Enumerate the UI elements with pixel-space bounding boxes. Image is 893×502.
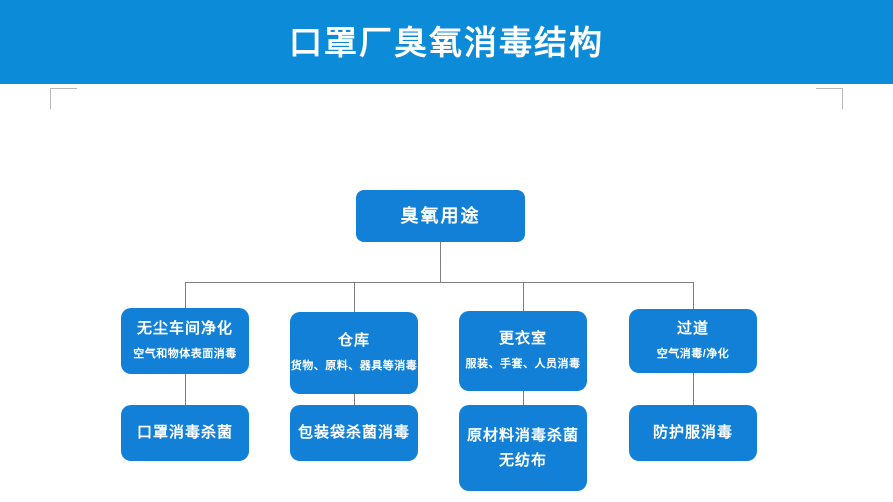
- connector-leaf-4: [693, 373, 694, 405]
- node-root[interactable]: 臭氧用途: [356, 190, 525, 242]
- node-changing-room-label: 更衣室: [499, 329, 547, 349]
- page-title: 口罩厂臭氧消毒结构: [0, 0, 893, 80]
- node-protective-clothing-disinfection[interactable]: 防护服消毒: [629, 405, 757, 461]
- node-changing-room-sublabel: 服装、手套、人员消毒: [466, 356, 581, 373]
- node-corridor-label: 过道: [677, 319, 709, 339]
- node-packaging-bag-disinfection-label: 包装袋杀菌消毒: [298, 423, 410, 443]
- header-divider: [0, 80, 893, 84]
- connector-bus: [185, 282, 694, 283]
- connector-branch-3: [523, 282, 524, 311]
- connector-branch-1: [185, 282, 186, 308]
- connector-leaf-3: [523, 391, 524, 405]
- node-warehouse-label: 仓库: [338, 331, 370, 351]
- node-raw-material-disinfection-label: 原材料消毒杀菌 无纺布: [459, 423, 587, 474]
- node-mask-disinfection-label: 口罩消毒杀菌: [137, 423, 233, 443]
- frame-corner-top-left: [50, 88, 77, 109]
- node-packaging-bag-disinfection[interactable]: 包装袋杀菌消毒: [290, 405, 418, 461]
- node-changing-room[interactable]: 更衣室 服装、手套、人员消毒: [459, 311, 587, 391]
- connector-branch-2: [354, 282, 355, 312]
- node-corridor-sublabel: 空气消毒/净化: [657, 346, 730, 363]
- node-protective-clothing-disinfection-label: 防护服消毒: [653, 423, 733, 443]
- frame-corner-top-right: [816, 88, 843, 109]
- connector-root-stem: [440, 242, 441, 282]
- node-cleanroom-sublabel: 空气和物体表面消毒: [133, 346, 237, 363]
- connector-branch-4: [693, 282, 694, 309]
- node-corridor[interactable]: 过道 空气消毒/净化: [629, 309, 757, 373]
- node-warehouse[interactable]: 仓库 货物、原料、器具等消毒: [290, 312, 418, 394]
- node-cleanroom-label: 无尘车间净化: [137, 319, 233, 339]
- connector-leaf-1: [185, 374, 186, 405]
- node-warehouse-sublabel: 货物、原料、器具等消毒: [291, 358, 418, 375]
- node-mask-disinfection[interactable]: 口罩消毒杀菌: [121, 405, 249, 461]
- node-cleanroom[interactable]: 无尘车间净化 空气和物体表面消毒: [121, 308, 249, 374]
- connector-leaf-2: [354, 394, 355, 405]
- node-raw-material-disinfection[interactable]: 原材料消毒杀菌 无纺布: [459, 405, 587, 491]
- node-root-label: 臭氧用途: [401, 204, 481, 228]
- slide-canvas: 口罩厂臭氧消毒结构 臭氧用途 无尘车间净化 空气和物体表面消毒 仓库 货物、原料…: [0, 0, 893, 502]
